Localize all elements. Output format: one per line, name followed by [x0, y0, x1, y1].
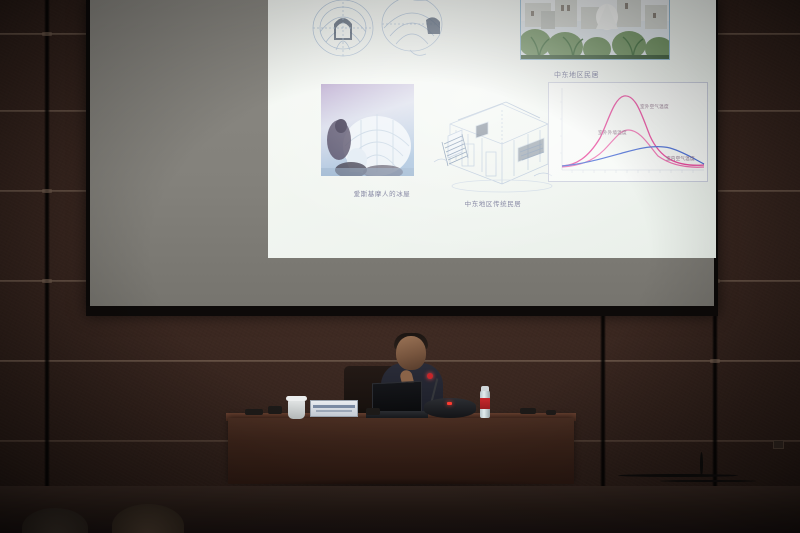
floor-cable [700, 452, 703, 476]
igloo-photo-art [321, 84, 414, 176]
wall-seam-node [42, 189, 52, 193]
middle-east-town-photo [520, 0, 670, 60]
igloo-photo [321, 84, 414, 176]
desk-small-item [546, 410, 556, 415]
wall-seam-node [42, 32, 52, 36]
curve-label-outdoor-air: 室外空气温度 [640, 104, 669, 110]
curve-label-outer-wall: 室外外墙温度 [598, 130, 627, 136]
wall-outlet [773, 440, 784, 449]
speaker-head [396, 336, 426, 370]
igloo-section-drawing-icon [298, 0, 468, 62]
temperature-chart: 室外空气温度 室外外墙温度 室内空气温度 [548, 68, 712, 186]
courtyard-house-drawing-icon [428, 90, 558, 198]
wall-seam [44, 0, 50, 486]
desk-small-item [245, 409, 263, 415]
floor-cable [660, 480, 756, 482]
desk-small-item [366, 408, 380, 415]
desk-small-item [520, 408, 536, 414]
projected-slide: 中东地区民居 [268, 0, 716, 258]
microphone-led-icon [427, 373, 433, 379]
slide-content: 中东地区民居 [268, 0, 716, 258]
speaker-led-icon [447, 402, 452, 405]
curve-label-indoor-air: 室内空气温度 [666, 156, 695, 162]
wall-seam-node [42, 279, 52, 283]
projection-screen-bottom-bar [86, 306, 718, 316]
town-photo-art [521, 0, 670, 60]
water-bottle-label [480, 398, 490, 409]
caption-house: 中东地区传统民居 [418, 198, 568, 208]
floor-cable [618, 474, 738, 477]
name-placard-text-line [316, 410, 352, 412]
desk-small-item [268, 406, 282, 414]
projection-screen-surface: 中东地区民居 [90, 0, 714, 308]
lecture-hall-photo: 中东地区民居 [0, 0, 800, 533]
chart-curves [548, 82, 708, 182]
wall-seam-node [710, 359, 720, 363]
teacup-lid [286, 396, 307, 401]
teacup [288, 399, 305, 419]
conference-speaker [424, 398, 476, 418]
caption-igloo: 爱斯基摩人的冰屋 [322, 188, 442, 198]
desk [228, 418, 574, 484]
water-bottle-cap [481, 386, 489, 391]
name-placard [310, 400, 358, 417]
name-placard-text-line [313, 405, 355, 408]
